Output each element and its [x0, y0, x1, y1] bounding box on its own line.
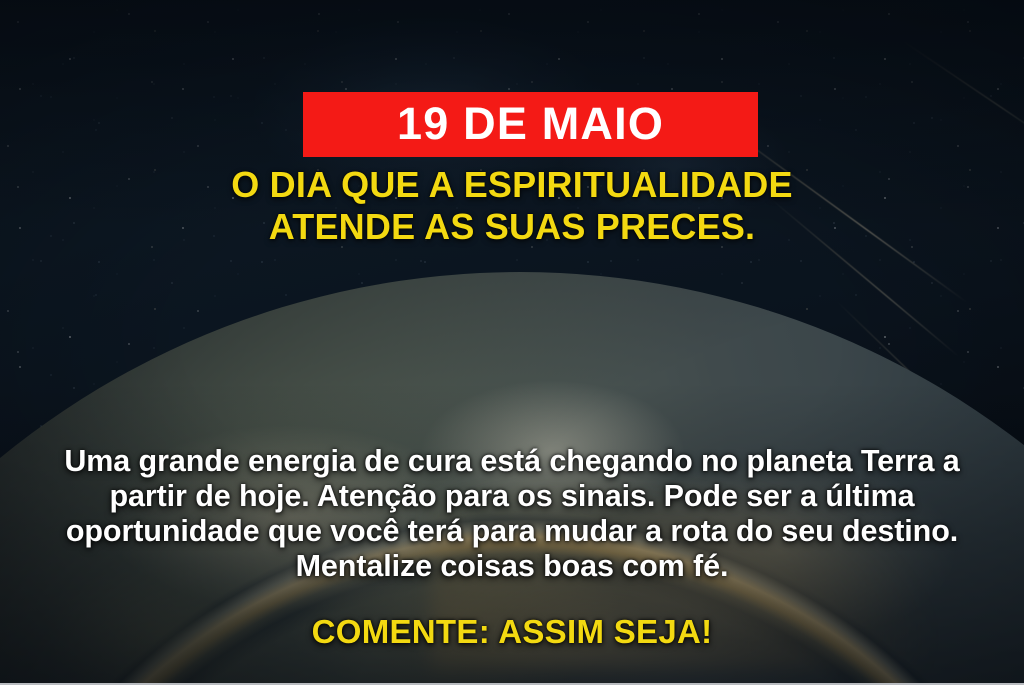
headline: O DIA QUE A ESPIRITUALIDADE ATENDE AS SU…: [0, 164, 1024, 249]
poster-canvas: 19 DE MAIO O DIA QUE A ESPIRITUALIDADE A…: [0, 0, 1024, 685]
poster-content: 19 DE MAIO O DIA QUE A ESPIRITUALIDADE A…: [0, 0, 1024, 683]
headline-line-2: ATENDE AS SUAS PRECES.: [0, 206, 1024, 248]
body-paragraph: Uma grande energia de cura está chegando…: [63, 444, 961, 584]
date-badge-label: 19 DE MAIO: [397, 101, 664, 146]
headline-line-1: O DIA QUE A ESPIRITUALIDADE: [0, 164, 1024, 206]
date-badge: 19 DE MAIO: [303, 92, 758, 157]
call-to-action-label: COMENTE: ASSIM SEJA!: [0, 613, 1024, 651]
